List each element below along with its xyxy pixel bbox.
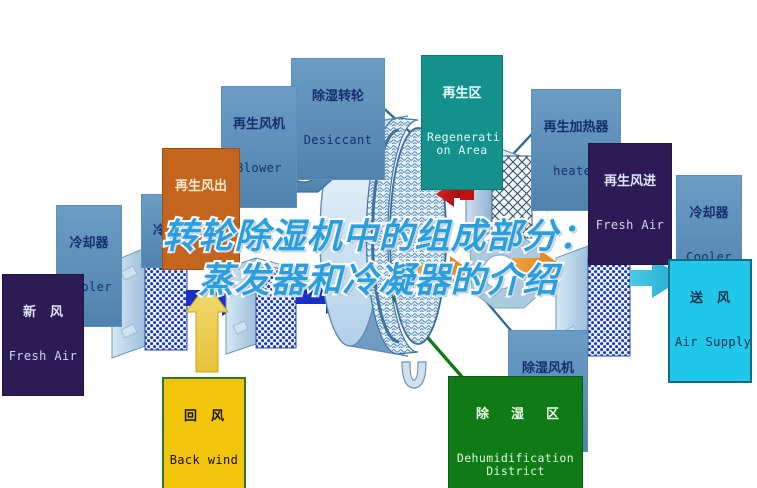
label-dehum-district-cn: 除湿区 — [454, 408, 577, 423]
label-dehum-district-en: Dehumidification District — [454, 452, 577, 478]
label-regen-area-en: Regenerati on Area — [427, 131, 497, 157]
label-regen-area-cn: 再生区 — [427, 87, 497, 102]
label-air-supply-en: Air Supply — [675, 336, 745, 349]
label-back-wind-cn: 回风 — [169, 410, 239, 425]
diagram-canvas: XT — [0, 0, 757, 488]
label-exhaust: 再生风出 Exhaust — [162, 148, 240, 270]
label-cooler-right-cn: 冷却器 — [682, 207, 736, 222]
label-dehum-blower-cn: 除湿风机 — [514, 362, 582, 377]
label-regen-area: 再生区 Regenerati on Area — [421, 55, 503, 190]
label-regen-fresh-air-cn: 再生风进 — [594, 175, 666, 190]
label-regen-heater-cn: 再生加热器 — [537, 121, 615, 136]
label-air-supply: 送风 Air Supply — [668, 259, 752, 383]
label-air-supply-cn: 送风 — [675, 292, 745, 307]
label-back-wind: 回风 Back wind — [162, 377, 246, 488]
label-desiccant-en: Desiccant — [297, 134, 379, 147]
label-regen-fresh-air: 再生风进 Fresh Air — [588, 143, 672, 265]
label-fresh-air-en: Fresh Air — [8, 350, 78, 363]
label-back-wind-en: Back wind — [169, 454, 239, 467]
rotor-support-foot — [402, 362, 426, 388]
label-regen-blower-cn: 再生风机 — [227, 118, 291, 133]
label-fresh-air-cn: 新风 — [8, 306, 78, 321]
label-cooler-left-cn: 冷却器 — [62, 237, 116, 252]
label-regen-fresh-air-en: Fresh Air — [594, 219, 666, 232]
label-exhaust-cn: 再生风出 — [168, 180, 234, 195]
label-exhaust-en: Exhaust — [168, 224, 234, 237]
label-dehum-district: 除湿区 Dehumidification District — [448, 376, 583, 488]
svg-text:XT: XT — [398, 319, 409, 329]
label-desiccant-cn: 除湿转轮 — [297, 90, 379, 105]
label-fresh-air: 新风 Fresh Air — [2, 274, 84, 396]
label-desiccant: 除湿转轮 Desiccant — [291, 58, 385, 180]
evaporator-coil-2 — [226, 258, 296, 354]
